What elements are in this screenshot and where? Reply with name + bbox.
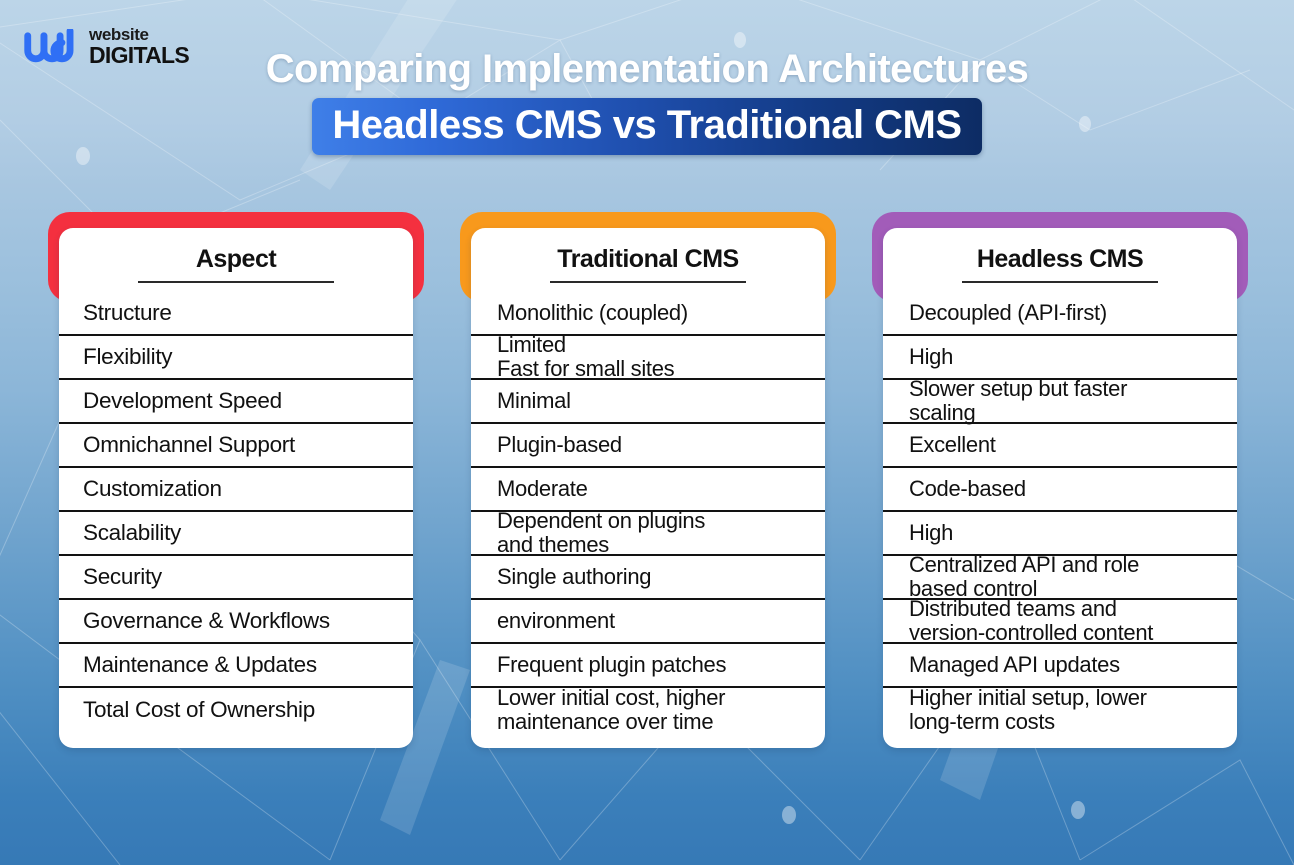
table-row: High [883,512,1237,556]
cell-text: Development Speed [83,389,282,413]
table-row: Plugin-based [471,424,825,468]
cell-text: Managed API updates [909,653,1120,677]
table-row: Minimal [471,380,825,424]
table-row: Excellent [883,424,1237,468]
column-header-label: Traditional CMS [485,245,811,274]
card-traditional-cms: Traditional CMS Monolithic (coupled) Lim… [471,228,825,748]
table-row: Slower setup but faster scaling [883,380,1237,424]
column-header-label: Headless CMS [897,245,1223,274]
cell-text: Customization [83,477,222,501]
table-row: Distributed teams and version-controlled… [883,600,1237,644]
table-row: Higher initial setup, lower long-term co… [883,688,1237,732]
cell-text: Lower initial cost, higher maintenance o… [497,686,725,734]
cell-text: Code-based [909,477,1026,501]
cell-text: Centralized API and role based control [909,553,1139,601]
cell-text: Maintenance & Updates [83,653,317,677]
cell-text: Distributed teams and version-controlled… [909,597,1153,645]
table-row: Development Speed [59,380,413,424]
table-row: Dependent on plugins and themes [471,512,825,556]
rows-headless-cms: Decoupled (API-first) High Slower setup … [883,292,1237,732]
column-aspect: Aspect Structure Flexibility Development… [48,212,424,748]
card-headless-cms: Headless CMS Decoupled (API-first) High … [883,228,1237,748]
table-row: Lower initial cost, higher maintenance o… [471,688,825,732]
rows-aspect: Structure Flexibility Development Speed … [59,292,413,732]
card-aspect: Aspect Structure Flexibility Development… [59,228,413,748]
cell-text: environment [497,609,615,633]
table-row: Managed API updates [883,644,1237,688]
column-headless-cms: Headless CMS Decoupled (API-first) High … [872,212,1248,748]
page-subtitle-highlight: Headless CMS vs Traditional CMS [312,98,981,155]
cell-text: Excellent [909,433,996,457]
table-row: Monolithic (coupled) [471,292,825,336]
column-header-label: Aspect [73,245,399,274]
table-row: Scalability [59,512,413,556]
cell-text: Moderate [497,477,588,501]
cell-text: Total Cost of Ownership [83,698,315,722]
header-titles: Comparing Implementation Architectures H… [0,48,1294,155]
cell-text: Omnichannel Support [83,433,295,457]
cell-text: Decoupled (API-first) [909,301,1107,325]
card-header-traditional-cms: Traditional CMS [471,240,825,283]
table-row: Omnichannel Support [59,424,413,468]
cell-text: Structure [83,301,172,325]
header-underline [962,281,1158,283]
table-row: Governance & Workflows [59,600,413,644]
cell-text: Single authoring [497,565,651,589]
page-title: Comparing Implementation Architectures [0,48,1294,91]
table-row: Limited Fast for small sites [471,336,825,380]
table-row: environment [471,600,825,644]
table-row: Flexibility [59,336,413,380]
cell-text: Limited Fast for small sites [497,333,674,381]
cell-text: Frequent plugin patches [497,653,726,677]
cell-text: Monolithic (coupled) [497,301,688,325]
table-row: Code-based [883,468,1237,512]
header-underline [138,281,334,283]
cell-text: Flexibility [83,345,172,369]
card-header-headless-cms: Headless CMS [883,240,1237,283]
table-row: High [883,336,1237,380]
cell-text: Higher initial setup, lower long-term co… [909,686,1147,734]
cell-text: Minimal [497,389,571,413]
table-row: Frequent plugin patches [471,644,825,688]
cell-text: Plugin-based [497,433,622,457]
table-row: Customization [59,468,413,512]
cell-text: Slower setup but faster scaling [909,377,1127,425]
column-traditional-cms: Traditional CMS Monolithic (coupled) Lim… [460,212,836,748]
table-row: Total Cost of Ownership [59,688,413,732]
cell-text: Security [83,565,162,589]
header-underline [550,281,746,283]
table-row: Security [59,556,413,600]
cell-text: High [909,345,953,369]
card-header-aspect: Aspect [59,240,413,283]
brand-line-1: website [89,26,189,43]
table-row: Structure [59,292,413,336]
cell-text: Scalability [83,521,181,545]
cell-text: Dependent on plugins and themes [497,509,705,557]
table-row: Centralized API and role based control [883,556,1237,600]
table-row: Maintenance & Updates [59,644,413,688]
table-row: Single authoring [471,556,825,600]
comparison-table: Aspect Structure Flexibility Development… [48,212,1248,748]
table-row: Decoupled (API-first) [883,292,1237,336]
rows-traditional-cms: Monolithic (coupled) Limited Fast for sm… [471,292,825,732]
table-row: Moderate [471,468,825,512]
cell-text: Governance & Workflows [83,609,330,633]
cell-text: High [909,521,953,545]
